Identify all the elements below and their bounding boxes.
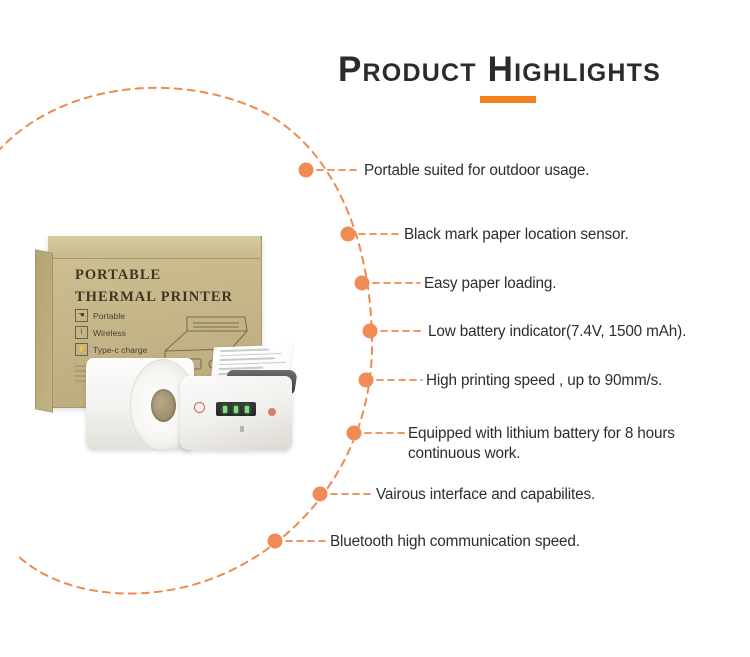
status-light: [268, 408, 276, 416]
box-title-line1: PORTABLE: [75, 265, 233, 287]
receipt-text-line: [219, 362, 285, 366]
printer-housing: [180, 376, 292, 450]
receipt-text-line: [220, 353, 281, 357]
highlight-item-7: Vairous interface and capabilites.: [376, 485, 595, 505]
power-button-icon[interactable]: [194, 402, 205, 413]
product-photo: PORTABLE THERMAL PRINTER ☚ Portable ⌇ Wi…: [28, 228, 328, 458]
box-feature-label: Wireless: [93, 328, 126, 338]
title-underline-accent: [480, 96, 536, 103]
usb-port-icon: [240, 426, 244, 432]
box-side-panel: [35, 249, 53, 412]
box-feature-label: Type-c charge: [93, 345, 147, 355]
paper-roll-core: [151, 389, 176, 422]
box-feature-list: ☚ Portable ⌇ Wireless ⚡ Type-c charge: [75, 309, 147, 360]
thermal-paper-roll: [86, 358, 194, 450]
receipt-text-line: [220, 357, 275, 360]
thermal-printer-device: [180, 346, 298, 450]
product-highlights-banner: Product Highlights Portable suited for o…: [0, 0, 750, 657]
box-title-line2: THERMAL PRINTER: [75, 287, 233, 309]
box-feature-row: ☚ Portable: [75, 309, 147, 322]
highlight-item-8: Bluetooth high communication speed.: [330, 532, 580, 552]
box-feature-label: Portable: [93, 311, 125, 321]
led-segment: [245, 406, 249, 413]
led-segment: [234, 406, 238, 413]
receipt-text-line: [220, 348, 269, 351]
battery-led-indicator: [216, 402, 256, 416]
wireless-icon: ⌇: [75, 326, 88, 339]
highlight-item-5: High printing speed , up to 90mm/s.: [426, 371, 662, 391]
usb-c-icon: ⚡: [75, 343, 88, 356]
box-lid-flap: [48, 236, 260, 259]
box-title: PORTABLE THERMAL PRINTER: [75, 265, 233, 309]
box-feature-row: ⚡ Type-c charge: [75, 343, 147, 356]
page-title-block: Product Highlights: [338, 52, 738, 103]
led-segment: [223, 406, 227, 413]
highlight-item-1: Portable suited for outdoor usage.: [364, 161, 589, 181]
highlight-item-3: Easy paper loading.: [424, 274, 556, 294]
hand-icon: ☚: [75, 309, 88, 322]
highlight-item-2: Black mark paper location sensor.: [404, 225, 629, 245]
highlight-item-6: Equipped with lithium battery for 8 hour…: [408, 424, 675, 464]
page-title: Product Highlights: [338, 52, 738, 89]
highlight-item-4: Low battery indicator(7.4V, 1500 mAh).: [428, 322, 686, 342]
box-feature-row: ⌇ Wireless: [75, 326, 147, 339]
